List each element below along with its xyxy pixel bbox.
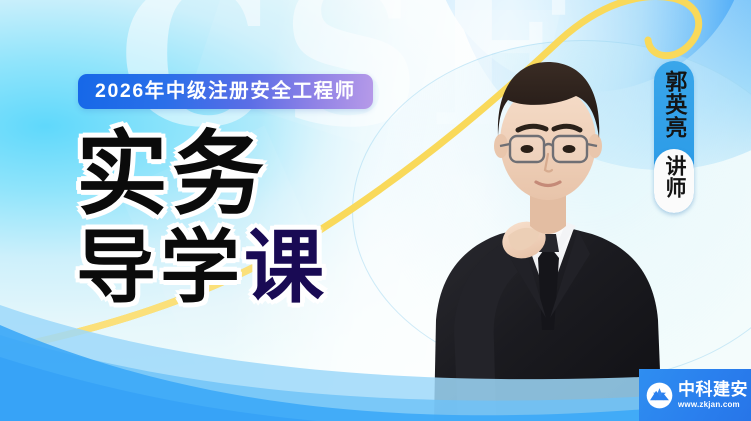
brand-url: www.zkjan.com	[678, 401, 748, 409]
course-poster: CSE	[0, 0, 751, 421]
badge-label: 2026年中级注册安全工程师	[95, 82, 356, 102]
headline-line-2-accent: 课	[244, 221, 328, 314]
headline-line-1: 实务	[76, 131, 496, 218]
brand-logo-text: 中科建安 www.zkjan.com	[678, 381, 748, 409]
instructor-role: 讲师	[662, 155, 686, 199]
brand-name: 中科建安	[678, 381, 748, 398]
instructor-name-tag: 郭英亮 讲师	[654, 61, 694, 213]
course-category-badge: 2026年中级注册安全工程师	[78, 74, 373, 109]
brand-logo[interactable]: 中科建安 www.zkjan.com	[639, 369, 751, 421]
headline-line-2: 导学课	[76, 230, 496, 306]
headline-line-2-plain: 导学	[76, 221, 244, 314]
poster-headline: 实务 导学课	[76, 131, 496, 306]
instructor-role-pill: 讲师	[654, 149, 694, 213]
mountain-star-logo-icon	[646, 382, 673, 409]
instructor-name: 郭英亮	[662, 70, 687, 144]
